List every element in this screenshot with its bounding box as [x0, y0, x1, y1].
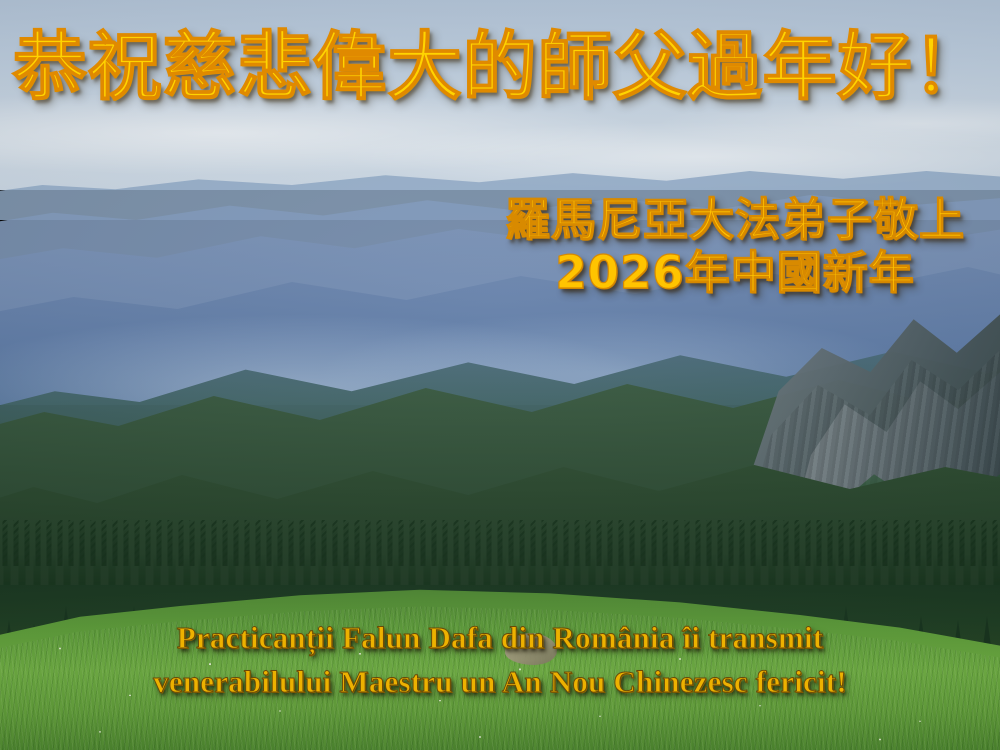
greeting-card: 恭祝慈悲偉大的師父過年好！ 羅馬尼亞大法弟子敬上 2026年中國新年 Pract… — [0, 0, 1000, 750]
headline-chinese-greeting: 恭祝慈悲偉大的師父過年好！ — [0, 30, 1000, 104]
footer-romanian-greeting: Practicanții Falun Dafa din România îi t… — [0, 616, 1000, 704]
signature-sender: 羅馬尼亞大法弟子敬上 — [505, 196, 965, 245]
footer-line-2: venerabilului Maestru un An Nou Chinezes… — [0, 660, 1000, 704]
footer-line-1: Practicanții Falun Dafa din România îi t… — [0, 616, 1000, 660]
signature-occasion: 2026年中國新年 — [505, 245, 965, 301]
text-overlay: 恭祝慈悲偉大的師父過年好！ 羅馬尼亞大法弟子敬上 2026年中國新年 Pract… — [0, 0, 1000, 750]
signature-block: 羅馬尼亞大法弟子敬上 2026年中國新年 — [505, 196, 965, 301]
